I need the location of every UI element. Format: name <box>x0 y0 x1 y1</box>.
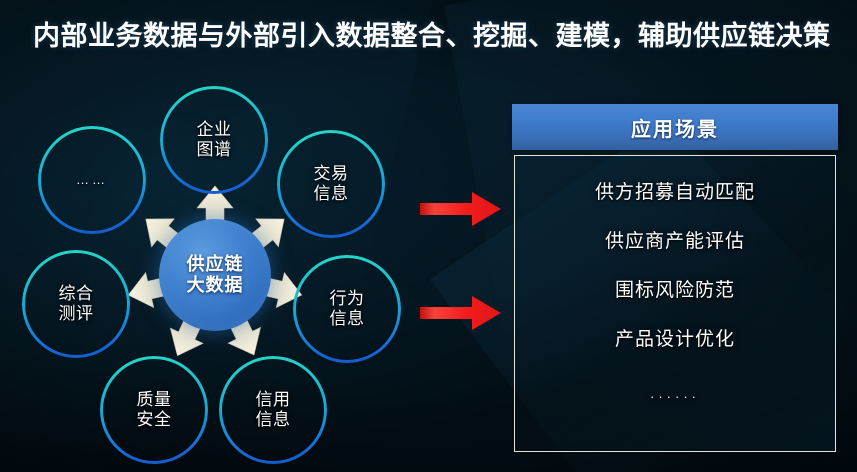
application-scenarios-panel: 应用场景 供方招募自动匹配 供应商产能评估 围标风险防范 产品设计优化 ····… <box>512 104 838 454</box>
slide-canvas: 内部业务数据与外部引入数据整合、挖掘、建模，辅助供应链决策 <box>0 0 857 472</box>
panel-item[interactable]: 产品设计优化 <box>615 329 735 351</box>
panel-item[interactable]: 供应商产能评估 <box>605 231 745 253</box>
node-label: 行为 信息 <box>330 289 365 329</box>
node-label: 质量 安全 <box>137 390 172 430</box>
node-more[interactable]: …… <box>38 126 146 234</box>
hub-label: 供应链 大数据 <box>187 254 244 296</box>
node-quality-safety[interactable]: 质量 安全 <box>100 356 208 464</box>
panel-item-more: ······ <box>650 386 700 408</box>
hub-supply-chain-big-data[interactable]: 供应链 大数据 <box>159 219 271 331</box>
panel-header: 应用场景 <box>512 104 838 150</box>
node-comprehensive-eval[interactable]: 综合 测评 <box>22 250 130 358</box>
node-credit-info[interactable]: 信用 信息 <box>219 356 327 464</box>
page-title: 内部业务数据与外部引入数据整合、挖掘、建模，辅助供应链决策 <box>33 14 843 58</box>
connector-arrow-top <box>420 192 501 226</box>
connector-arrows-group <box>415 190 515 340</box>
panel-item[interactable]: 围标风险防范 <box>615 280 735 302</box>
node-label: 交易 信息 <box>314 164 349 204</box>
node-transaction-info[interactable]: 交易 信息 <box>277 130 385 238</box>
supply-chain-diagram: 企业 图谱 交易 信息 行为 信息 信用 信息 <box>0 62 430 472</box>
panel-body: 供方招募自动匹配 供应商产能评估 围标风险防范 产品设计优化 ······ <box>514 155 836 452</box>
panel-header-label: 应用场景 <box>631 113 719 142</box>
node-behavior-info[interactable]: 行为 信息 <box>293 255 401 363</box>
node-label: 信用 信息 <box>256 390 291 430</box>
node-label: 综合 测评 <box>59 284 94 324</box>
connector-arrow-bottom <box>420 296 501 330</box>
node-enterprise-graph[interactable]: 企业 图谱 <box>160 86 268 194</box>
node-label: …… <box>76 170 108 190</box>
node-label: 企业 图谱 <box>197 120 232 160</box>
panel-item[interactable]: 供方招募自动匹配 <box>595 182 755 204</box>
